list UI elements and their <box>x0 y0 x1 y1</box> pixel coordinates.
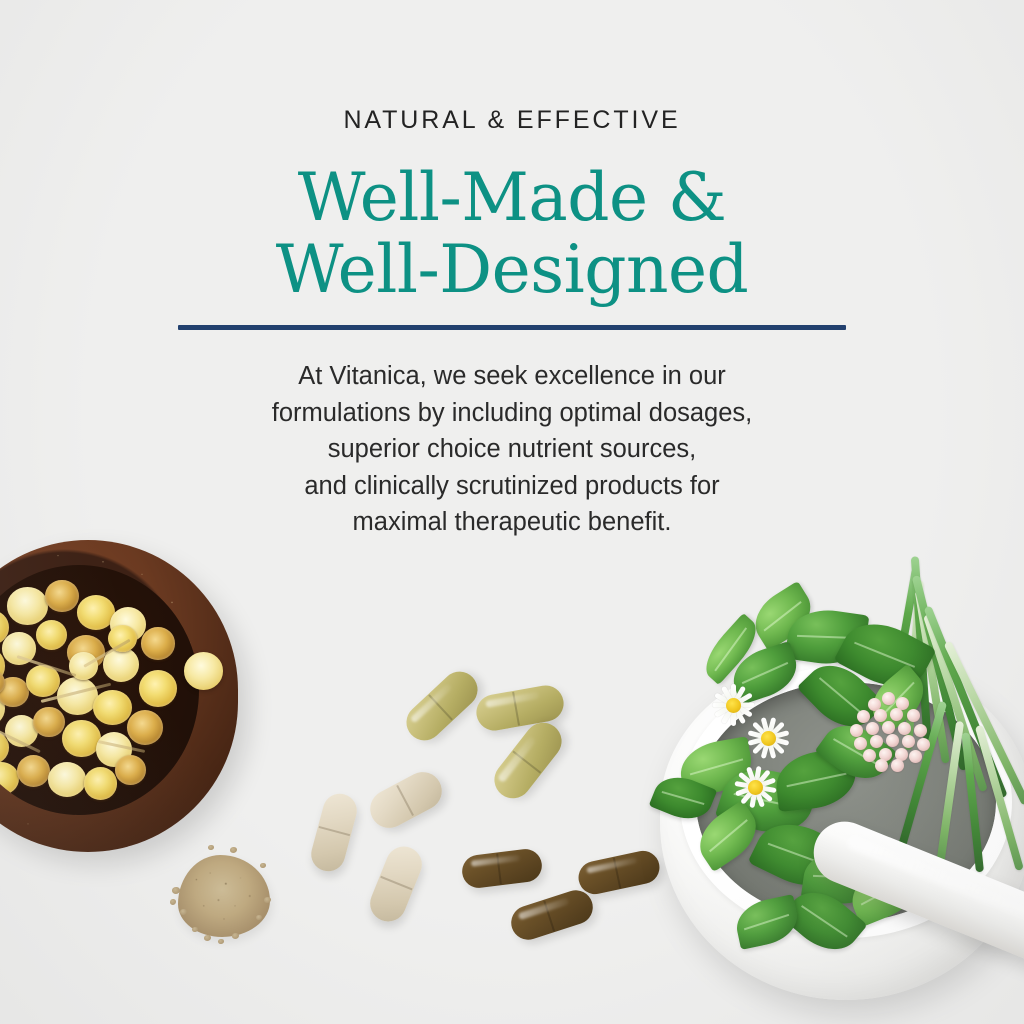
promo-banner: NATURAL & EFFECTIVE Well-Made & Well-Des… <box>0 0 1024 1024</box>
daisy-flower-2 <box>740 710 796 766</box>
headline-line-1: Well-Made & <box>0 162 1024 234</box>
body-paragraph: At Vitanica, we seek excellence in our f… <box>0 358 1024 541</box>
daisy-flower-3 <box>732 764 778 810</box>
capsule-olive-1 <box>399 664 485 748</box>
capsule-brown-3 <box>507 886 597 944</box>
body-line-5: maximal therapeutic benefit. <box>0 504 1024 541</box>
capsule-brown-1 <box>460 847 543 890</box>
body-line-3: superior choice nutrient sources, <box>0 431 1024 468</box>
body-line-1: At Vitanica, we seek excellence in our <box>0 358 1024 395</box>
allium-flower <box>848 692 932 770</box>
body-line-2: formulations by including optimal dosage… <box>0 395 1024 432</box>
section-divider <box>178 325 846 330</box>
tablet-cream-1 <box>307 790 360 875</box>
body-line-4: and clinically scrutinized products for <box>0 468 1024 505</box>
page-title: Well-Made & Well-Designed <box>0 162 1024 306</box>
tablet-cream-3 <box>365 841 428 927</box>
headline-line-2: Well-Designed <box>0 234 1024 306</box>
mortar-and-pestle <box>636 600 1024 1024</box>
tablet-cream-2 <box>364 765 449 834</box>
eyebrow-text: NATURAL & EFFECTIVE <box>0 106 1024 135</box>
